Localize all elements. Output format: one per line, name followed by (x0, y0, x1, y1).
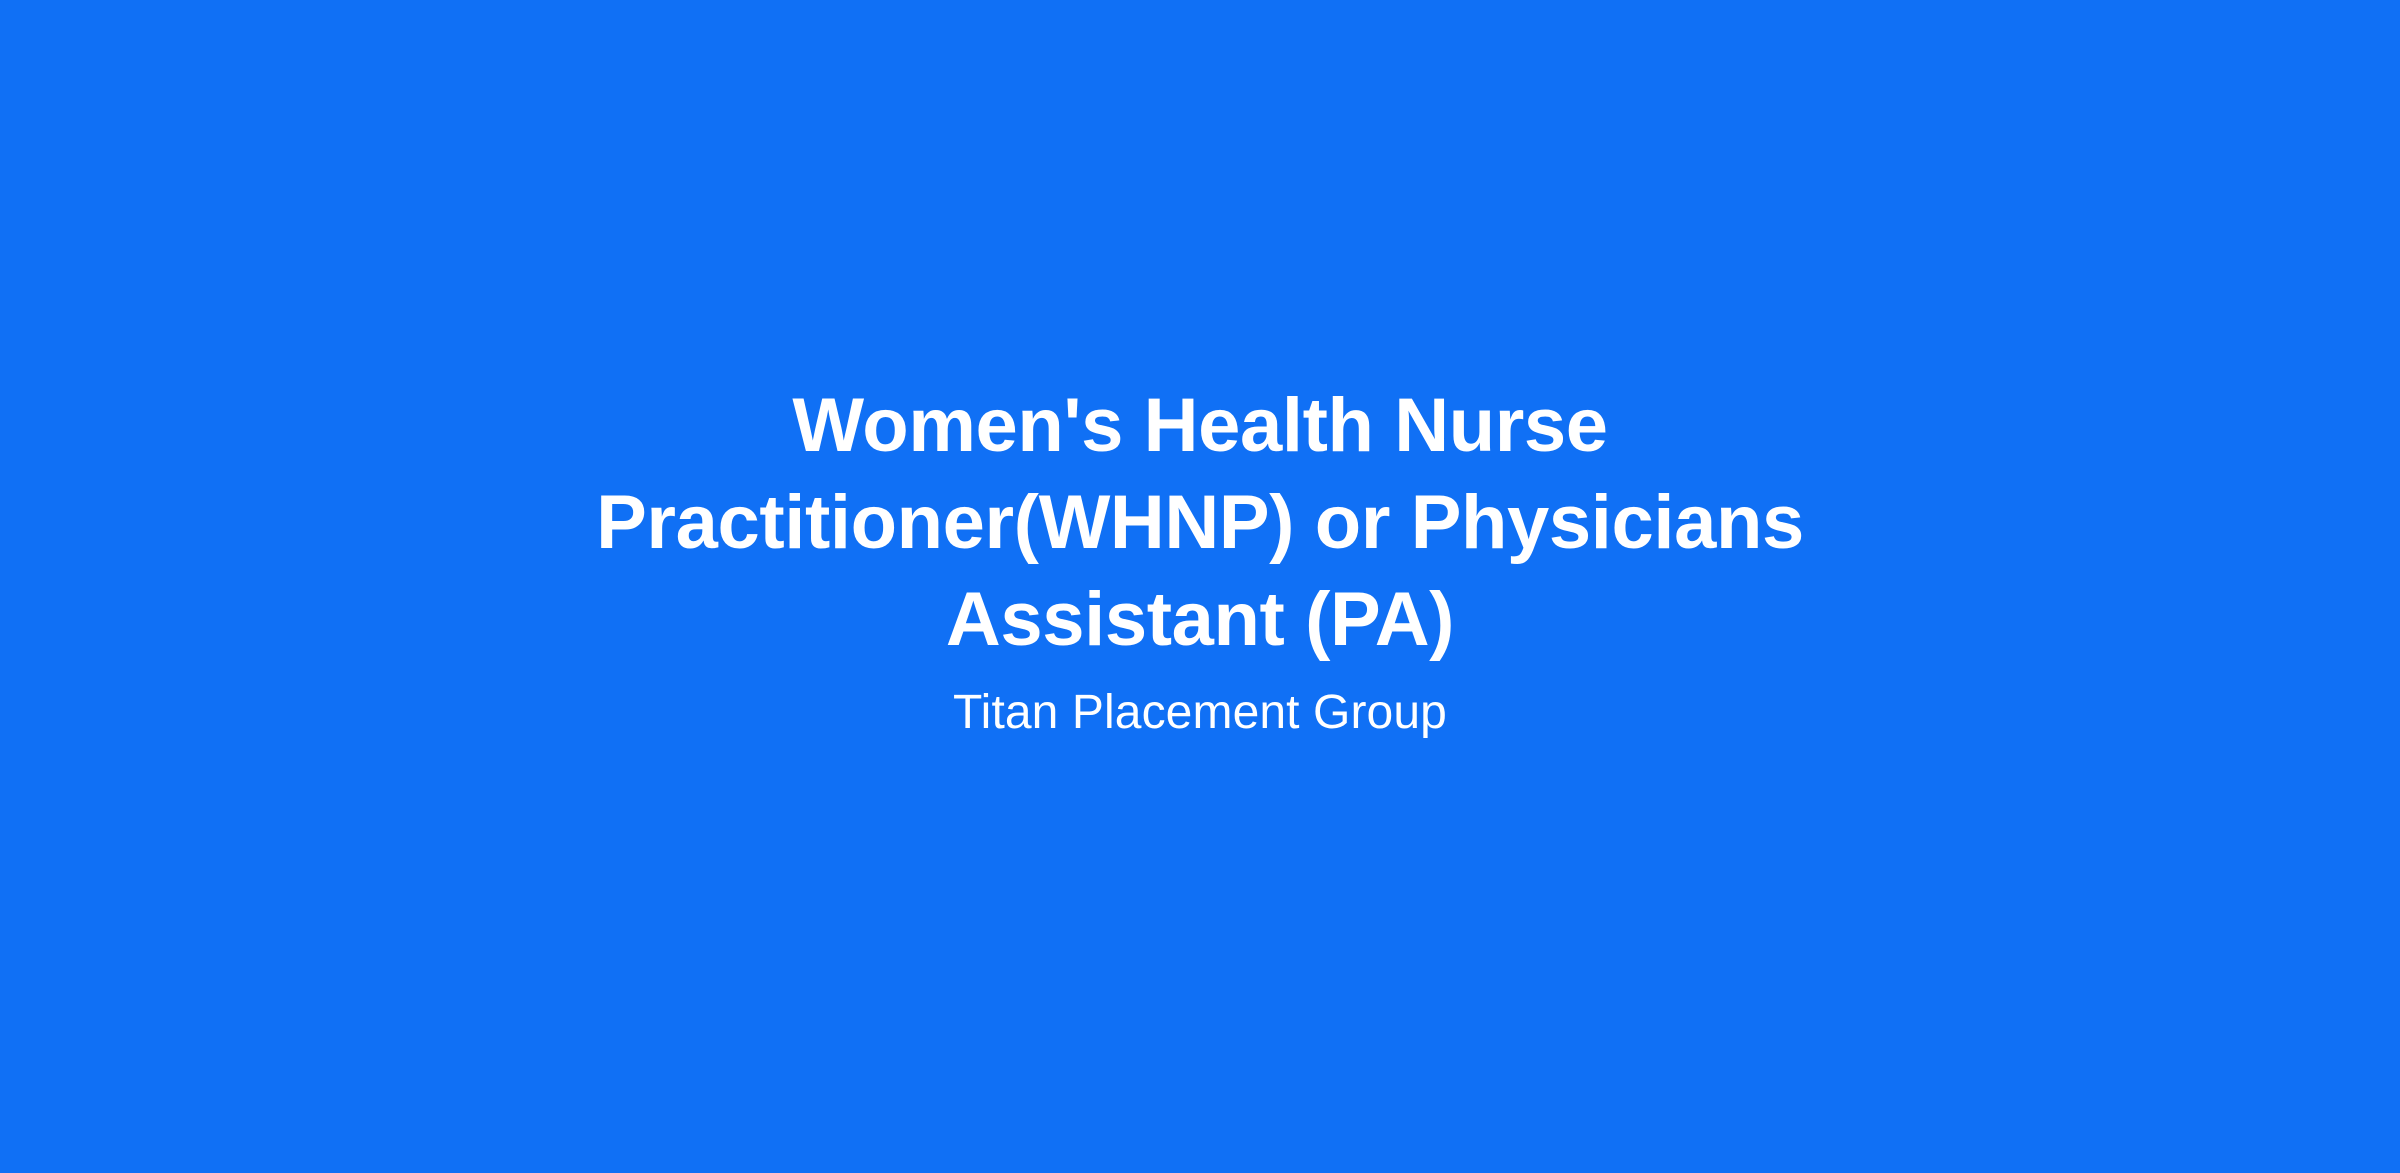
company-name: Titan Placement Group (460, 682, 1940, 744)
job-hero-banner: Women's Health Nurse Practitioner(WHNP) … (0, 0, 2400, 1173)
job-title: Women's Health Nurse Practitioner(WHNP) … (460, 377, 1940, 668)
hero-text-block: Women's Health Nurse Practitioner(WHNP) … (460, 377, 1940, 744)
